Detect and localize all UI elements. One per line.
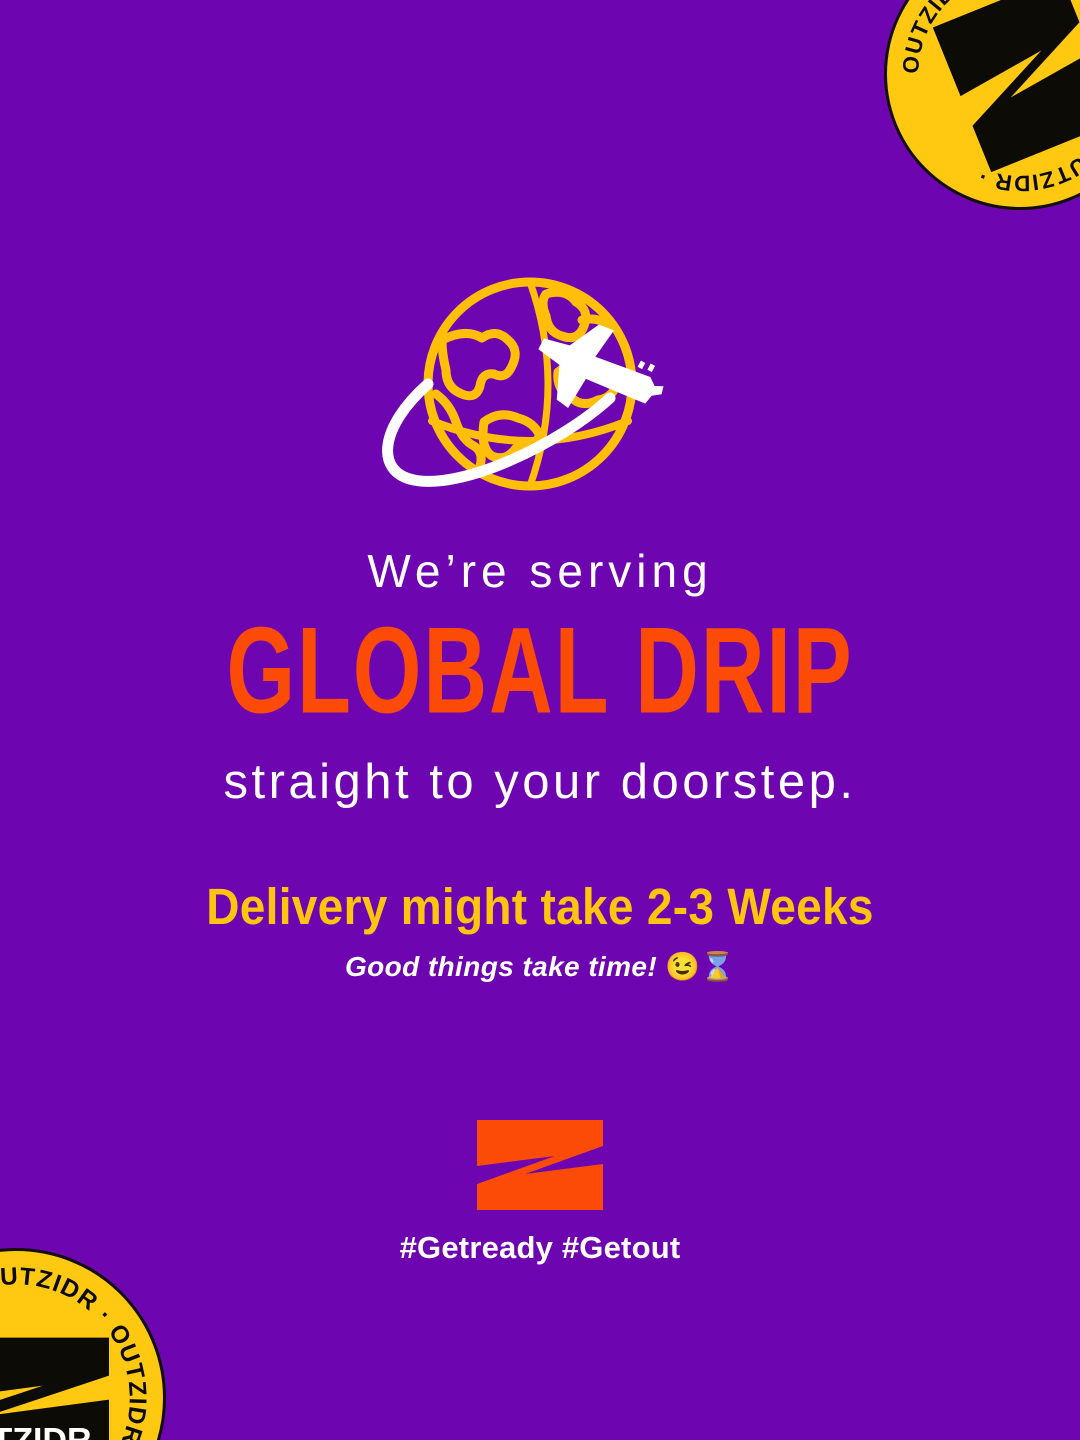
z-logo-mark-bottom-left: OUTZIDR [0,1336,111,1440]
eyebrow-text: We’re serving [0,548,1080,594]
footer-block: #Getready #Getout [0,1120,1080,1266]
globe-with-airplane-illustration [0,276,1080,506]
brand-z-logo-icon [477,1120,603,1210]
copy-block: We’re serving GLOBAL DRIP straight to yo… [0,548,1080,981]
outzidr-badge-top-right: OUTZIDR · OUTZIDR · OUTZIDR · OUTZIDR · [884,0,1080,210]
headline-text: GLOBAL DRIP [43,610,1037,733]
hashtags-text: #Getready #Getout [0,1230,1080,1266]
promo-poster: OUTZIDR · OUTZIDR · OUTZIDR · OUTZIDR · … [0,0,1080,1440]
reassurance-text: Good things take time! [345,951,657,982]
wink-hourglass-emoji: 😉⌛ [665,951,735,982]
z-mark-wordmark-bottom-left: OUTZIDR [0,1422,92,1440]
subline-text: straight to your doorstep. [0,758,1080,807]
reassurance-line: Good things take time! 😉⌛ [0,953,1080,981]
outzidr-badge-bottom-left: OUTZIDR · OUTZIDR · OUTZIDR · OUTZIDR · … [0,1248,166,1440]
delivery-notice-text: Delivery might take 2-3 Weeks [0,881,1080,932]
